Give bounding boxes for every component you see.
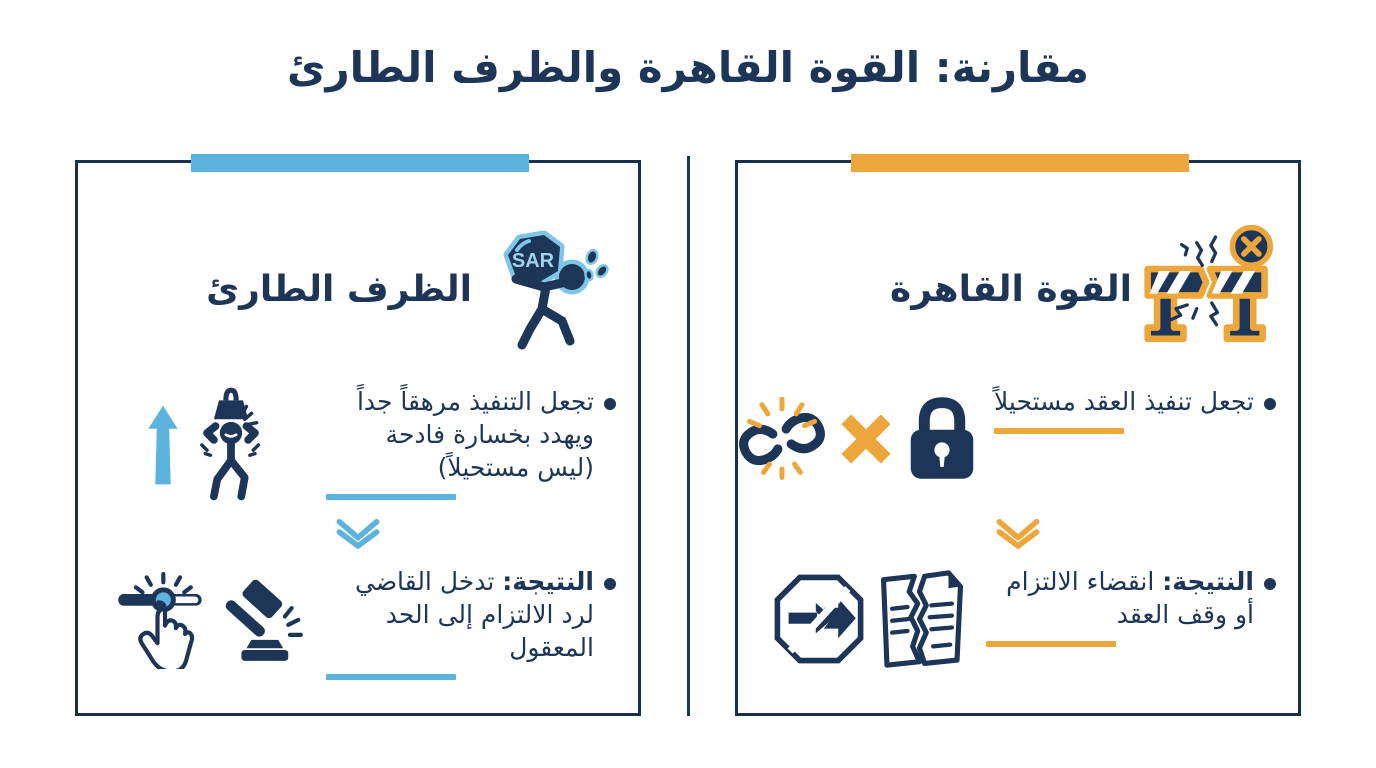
up-arrow-icon: [146, 397, 180, 497]
chevron-double-down-icon-right: [738, 515, 1298, 549]
center-divider: [687, 156, 690, 716]
panel-emergency-circumstance: SAR الظرف الطارئ تجعل التنفيذ مرهقاً جدا…: [75, 160, 641, 716]
chevron-double-down-icon-left: [78, 515, 638, 549]
panel-force-majeure: القوة القاهرة تجعل تنفيذ العقد مستحيلاً: [735, 160, 1301, 716]
panel-left-item-1: تجعل التنفيذ مرهقاً جداً ويهدد بخسارة فا…: [100, 385, 616, 509]
underline-accent: [326, 494, 456, 500]
panel-right-item-2-text: النتيجة: انقضاء الالتزام أو وقف العقد: [986, 565, 1254, 631]
panel-left-item-2: النتيجة: تدخل القاضي لرد الالتزام إلى ال…: [100, 565, 616, 680]
x-mark-icon: [836, 409, 896, 473]
bullet-dot: [604, 398, 616, 410]
panel-right-header: القوة القاهرة: [762, 219, 1274, 359]
bullet-dot: [1264, 578, 1276, 590]
no-entry-broken-arrow-icon: [771, 571, 867, 671]
accent-bar-left: [191, 154, 529, 172]
torn-document-icon: [875, 567, 969, 675]
panel-left-title: الظرف الطارئ: [206, 269, 472, 310]
sar-badge-text: SAR: [512, 250, 555, 272]
panel-right-item-2: النتيجة: انقضاء الالتزام أو وقف العقد: [760, 565, 1276, 677]
panel-left-item-1-text: تجعل التنفيذ مرهقاً جداً ويهدد بخسارة فا…: [326, 385, 594, 484]
page-title: مقارنة: القوة القاهرة والظرف الطارئ: [0, 44, 1376, 92]
underline-accent: [994, 428, 1124, 434]
heavy-weight-person-icon: [188, 385, 274, 509]
broken-chain-icon: [736, 397, 828, 485]
panel-right-item-1-text: تجعل تنفيذ العقد مستحيلاً: [994, 385, 1254, 418]
panel-right-title: القوة القاهرة: [890, 269, 1132, 310]
bullet-dot: [604, 578, 616, 590]
panel-left-item-2-prefix: النتيجة:: [502, 567, 594, 596]
panel-right-item-2-prefix: النتيجة:: [1162, 567, 1254, 596]
broken-barrier-icon: [1146, 225, 1274, 353]
person-carrying-sar-burden-icon: SAR: [486, 225, 614, 353]
gavel-icon: [218, 573, 310, 669]
underline-accent: [326, 674, 456, 680]
accent-bar-right: [851, 154, 1189, 172]
underline-accent: [986, 641, 1116, 647]
panel-right-item-1: تجعل تنفيذ العقد مستحيلاً: [760, 385, 1276, 497]
panel-left-item-2-text: النتيجة: تدخل القاضي لرد الالتزام إلى ال…: [326, 565, 594, 664]
hand-slider-adjust-icon: [110, 569, 210, 673]
lock-icon: [904, 392, 980, 490]
panel-left-header: SAR الظرف الطارئ: [102, 219, 614, 359]
bullet-dot: [1264, 398, 1276, 410]
